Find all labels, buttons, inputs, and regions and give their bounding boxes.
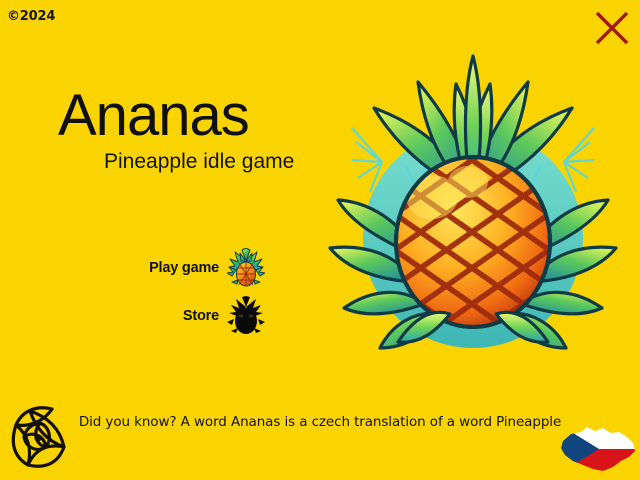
- pineapple-mascot-illustration: [322, 42, 624, 360]
- menu-item-store[interactable]: Store: [60, 294, 265, 338]
- copyright-label: ©2024: [7, 9, 55, 24]
- page-title: Ananas: [58, 85, 249, 147]
- did-you-know-note: Did you know? A word Ananas is a czech t…: [0, 414, 640, 430]
- main-menu: Play game: [60, 246, 265, 342]
- menu-item-label: Play game: [149, 260, 219, 276]
- czech-republic-map-flag-icon[interactable]: [557, 423, 637, 475]
- game-main-menu-screen: ©2024 Ananas Pineapple idle game Play ga…: [0, 0, 640, 480]
- menu-item-label: Store: [183, 308, 219, 324]
- close-button[interactable]: [592, 8, 632, 48]
- studio-flower-logo-icon[interactable]: [8, 403, 72, 469]
- page-subtitle: Pineapple idle game: [104, 149, 294, 175]
- menu-item-play-game[interactable]: Play game: [60, 246, 265, 290]
- close-x-icon: [592, 8, 632, 48]
- pineapple-icon: [227, 248, 265, 288]
- dark-pineapple-icon: [227, 296, 265, 336]
